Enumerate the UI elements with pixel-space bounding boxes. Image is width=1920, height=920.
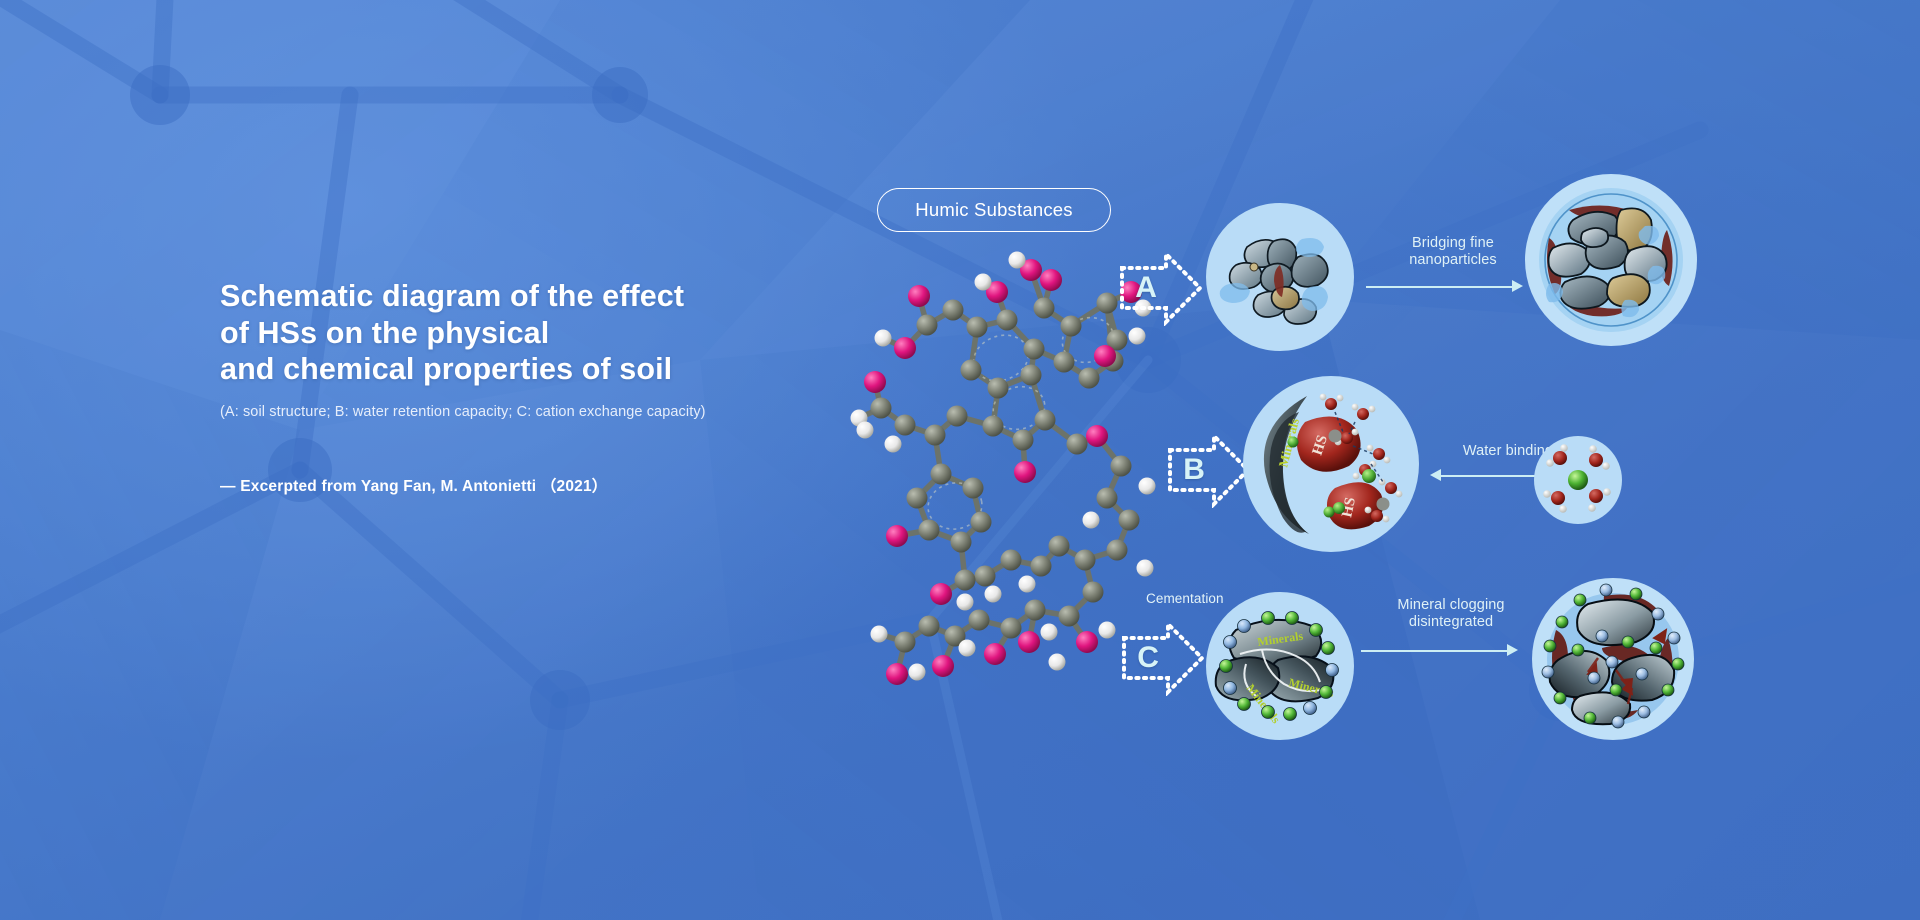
flow-arrow-c-line: [1361, 650, 1509, 652]
humic-substances-label-text: Humic Substances: [915, 199, 1072, 221]
flow-arrow-c-head: [1507, 644, 1518, 656]
cemented-mineral-art: Minerals Minerals Minerals: [1206, 592, 1354, 740]
row-marker-b-letter: B: [1166, 432, 1252, 508]
humic-substances-label: Humic Substances: [877, 188, 1111, 232]
row-marker-c-letter: C: [1120, 620, 1206, 696]
hydrated-cation-art: [1534, 436, 1622, 524]
flow-label-bridging-line2: nanoparticles: [1378, 252, 1528, 269]
flow-label-bridging: Bridging fine nanoparticles: [1378, 235, 1528, 269]
flow-arrow-a-line: [1366, 286, 1514, 288]
row-marker-c: C: [1120, 620, 1206, 696]
disintegrated-mineral-circle: [1532, 578, 1694, 740]
bridged-aggregate-art: [1525, 174, 1697, 346]
disintegrated-mineral-art: [1532, 578, 1694, 740]
hydrated-cation-circle: [1534, 436, 1622, 524]
loose-soil-particles-circle: [1206, 203, 1354, 351]
loose-particles-art: [1206, 203, 1354, 351]
bridged-soil-aggregate-circle: [1525, 174, 1697, 346]
flow-label-clogging-line2: disintegrated: [1366, 614, 1536, 631]
diagram-area: Humic Substances: [0, 0, 1920, 920]
flow-label-bridging-line1: Bridging fine: [1378, 235, 1528, 252]
hs-mineral-water-retention-circle: HS HS Minerals: [1243, 376, 1419, 552]
flow-label-clogging-line1: Mineral clogging: [1366, 597, 1536, 614]
row-marker-a-letter: A: [1118, 250, 1204, 326]
flow-arrow-a-head: [1512, 280, 1523, 292]
flow-arrow-b-head: [1430, 469, 1441, 481]
cemented-mineral-circle: Minerals Minerals Minerals: [1206, 592, 1354, 740]
water-retention-art: HS HS Minerals: [1243, 376, 1419, 552]
row-marker-b: B: [1166, 432, 1252, 508]
row-marker-a: A: [1118, 250, 1204, 326]
flow-label-clogging: Mineral clogging disintegrated: [1366, 597, 1536, 631]
